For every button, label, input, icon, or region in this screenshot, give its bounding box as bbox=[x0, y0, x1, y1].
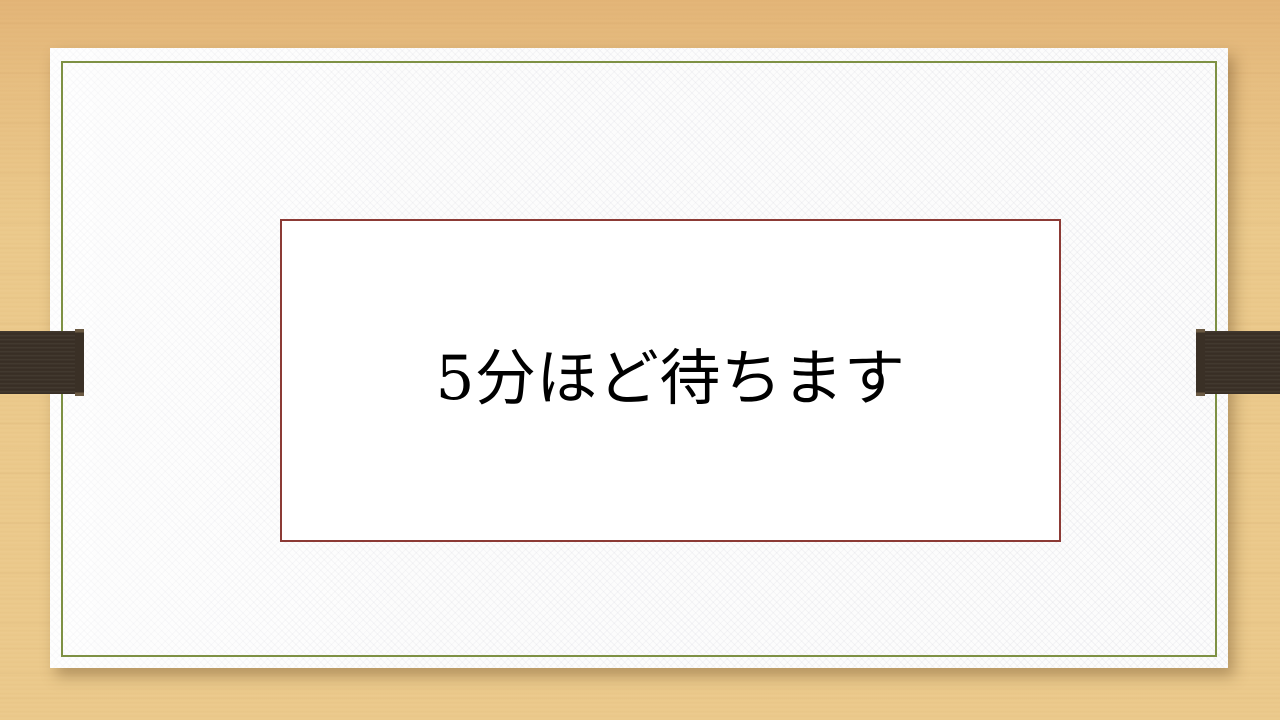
ribbon-tab-right-cap bbox=[1196, 329, 1205, 396]
slide-body-text: 5分ほど待ちます bbox=[436, 340, 906, 418]
ribbon-tab-right bbox=[1205, 331, 1280, 394]
slide-card: 5分ほど待ちます bbox=[50, 48, 1228, 668]
presentation-slide: 5分ほど待ちます bbox=[0, 0, 1280, 720]
ribbon-tab-left bbox=[0, 331, 75, 394]
ribbon-tab-left-cap bbox=[75, 329, 84, 396]
content-text-box[interactable]: 5分ほど待ちます bbox=[280, 219, 1061, 542]
